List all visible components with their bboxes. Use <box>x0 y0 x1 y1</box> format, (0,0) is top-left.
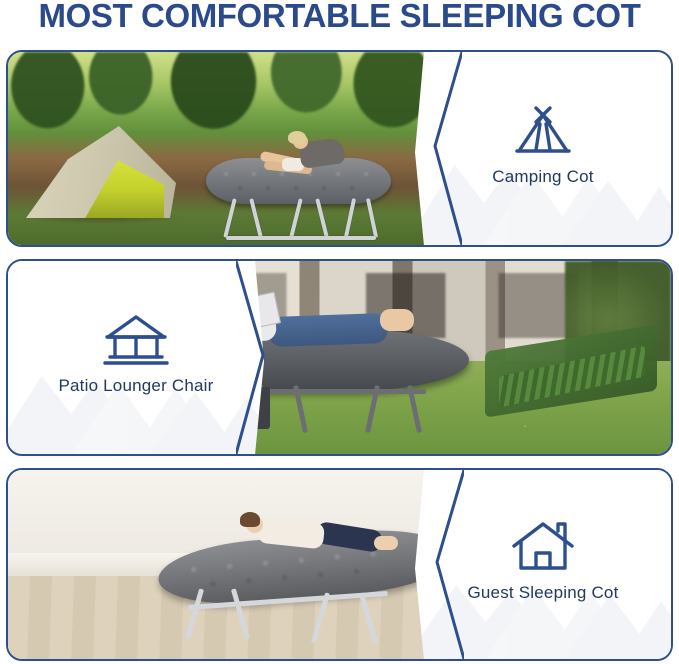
cot-frame <box>220 198 378 242</box>
person-jeans <box>268 313 389 347</box>
panel-3-label-content: Guest Sleeping Cot <box>467 520 618 603</box>
panel-camping-cot: Camping Cot <box>6 50 673 247</box>
panel-3-label-text: Guest Sleeping Cot <box>467 583 618 603</box>
person-feet <box>380 309 414 331</box>
pavilion-icon <box>101 313 171 367</box>
panel-2-label-area: Patio Lounger Chair <box>8 261 264 454</box>
person-feet <box>374 536 398 550</box>
panel-1-label-text: Camping Cot <box>492 167 593 187</box>
panel-1-divider <box>426 52 462 245</box>
panel-2-label-content: Patio Lounger Chair <box>58 313 213 396</box>
person-reclining <box>254 136 350 180</box>
person-top <box>257 517 325 550</box>
person-resting <box>246 510 406 558</box>
panel-2-divider <box>236 261 272 454</box>
panel-patio-lounger-chair: Patio Lounger Chair <box>6 259 673 456</box>
panel-guest-sleeping-cot: Guest Sleeping Cot <box>6 468 673 661</box>
teepee-tent-icon <box>512 104 574 158</box>
house-icon <box>510 520 576 574</box>
page-title: MOST COMFORTABLE SLEEPING COT <box>0 0 679 38</box>
panel-1-label-content: Camping Cot <box>492 104 593 187</box>
person-hair <box>288 131 306 144</box>
person-pants <box>315 521 384 553</box>
person-hair <box>240 512 260 527</box>
panel-2-label-text: Patio Lounger Chair <box>58 376 213 396</box>
panel-3-divider <box>428 470 464 659</box>
camping-tent <box>26 126 176 218</box>
